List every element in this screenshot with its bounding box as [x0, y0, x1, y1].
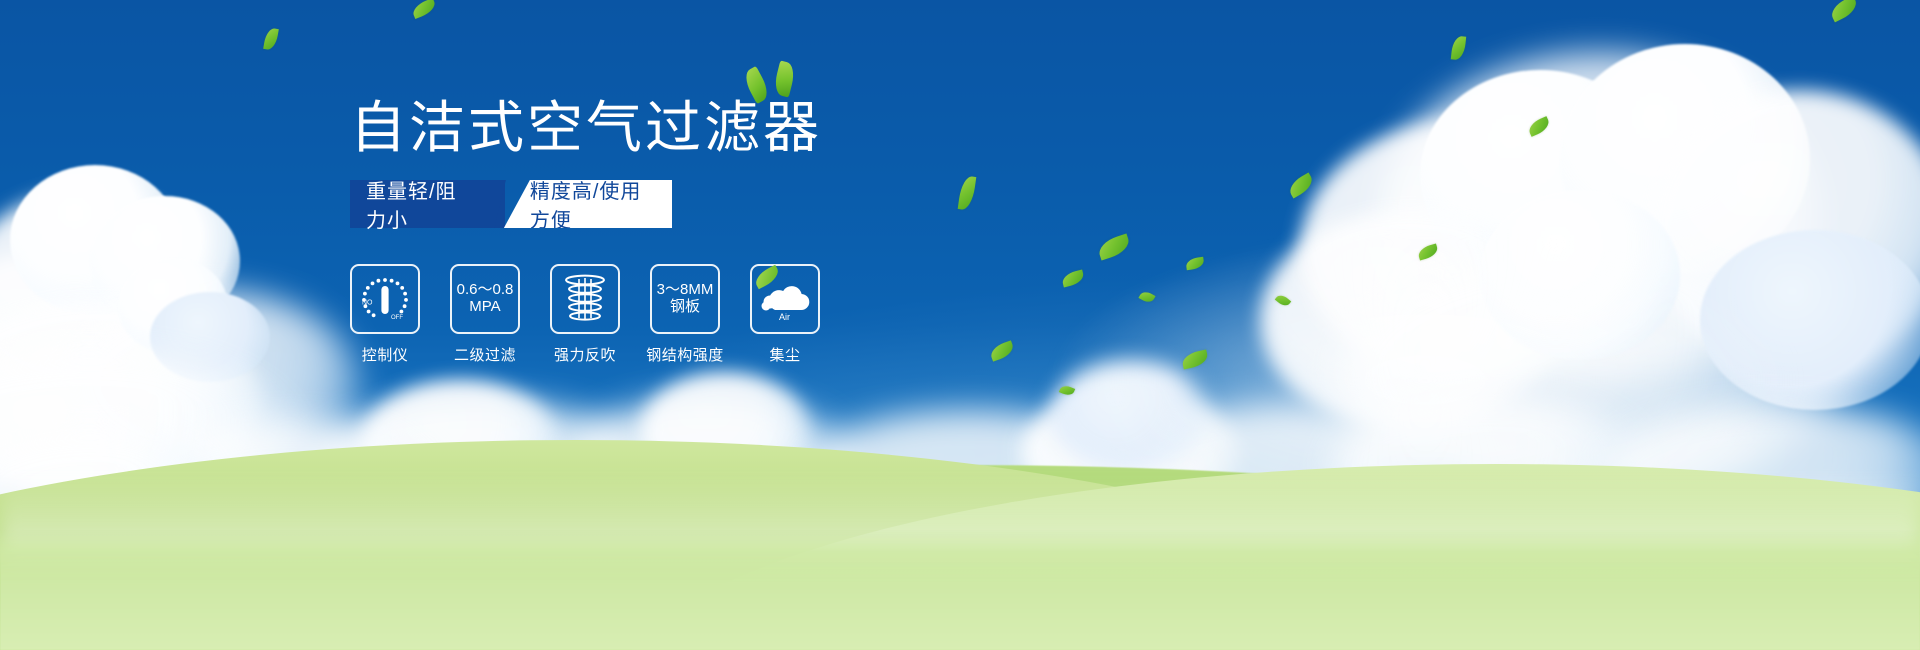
feature-label: 钢结构强度: [646, 344, 724, 365]
feature-box: 0.6～0.8 MPA: [450, 264, 520, 334]
air-cloud-icon: Air: [759, 280, 811, 320]
banner-content: 自洁式空气过滤器 重量轻/阻力小 精度高/使用方便: [350, 100, 1090, 365]
feature-item-backblow[interactable]: 强力反吹: [550, 264, 620, 365]
dial-on-label: NO: [362, 300, 373, 307]
product-banner: 自洁式空气过滤器 重量轻/阻力小 精度高/使用方便: [0, 0, 1920, 650]
feature-item-steel[interactable]: 3～8MM 钢板 钢结构强度: [650, 264, 720, 365]
page-title: 自洁式空气过滤器: [350, 100, 822, 156]
subtitle-left: 重量轻/阻力小: [350, 180, 505, 228]
filter-coil-icon: [562, 273, 608, 325]
feature-box: Air: [750, 264, 820, 334]
feature-item-dust[interactable]: Air 集尘: [750, 264, 820, 365]
feature-box: NO OFF: [350, 264, 420, 334]
feature-item-controller[interactable]: NO OFF 控制仪: [350, 264, 420, 365]
feature-label: 控制仪: [362, 344, 409, 365]
pressure-text-icon: 0.6～0.8 MPA: [457, 282, 514, 316]
steel-text-icon: 3～8MM 钢板: [657, 282, 714, 316]
feature-label: 强力反吹: [554, 344, 616, 365]
feature-box: [550, 264, 620, 334]
feature-item-filtration[interactable]: 0.6～0.8 MPA 二级过滤: [450, 264, 520, 365]
feature-label: 二级过滤: [454, 344, 516, 365]
dial-off-label: OFF: [391, 315, 403, 321]
grass-foreground: [0, 530, 1920, 650]
cloud-air-label: Air: [779, 312, 790, 320]
title-wrapper: 自洁式空气过滤器: [350, 100, 822, 156]
gauge-dial-icon: NO OFF: [357, 271, 413, 327]
feature-label: 集尘: [769, 344, 800, 365]
subtitle-right: 精度高/使用方便: [504, 180, 672, 228]
subtitle-bar: 重量轻/阻力小 精度高/使用方便: [350, 180, 672, 228]
sprout-leaves-icon: [746, 58, 806, 104]
feature-box: 3～8MM 钢板: [650, 264, 720, 334]
feature-list: NO OFF 控制仪 0.6～0.8 MPA 二级过滤: [350, 264, 1090, 365]
